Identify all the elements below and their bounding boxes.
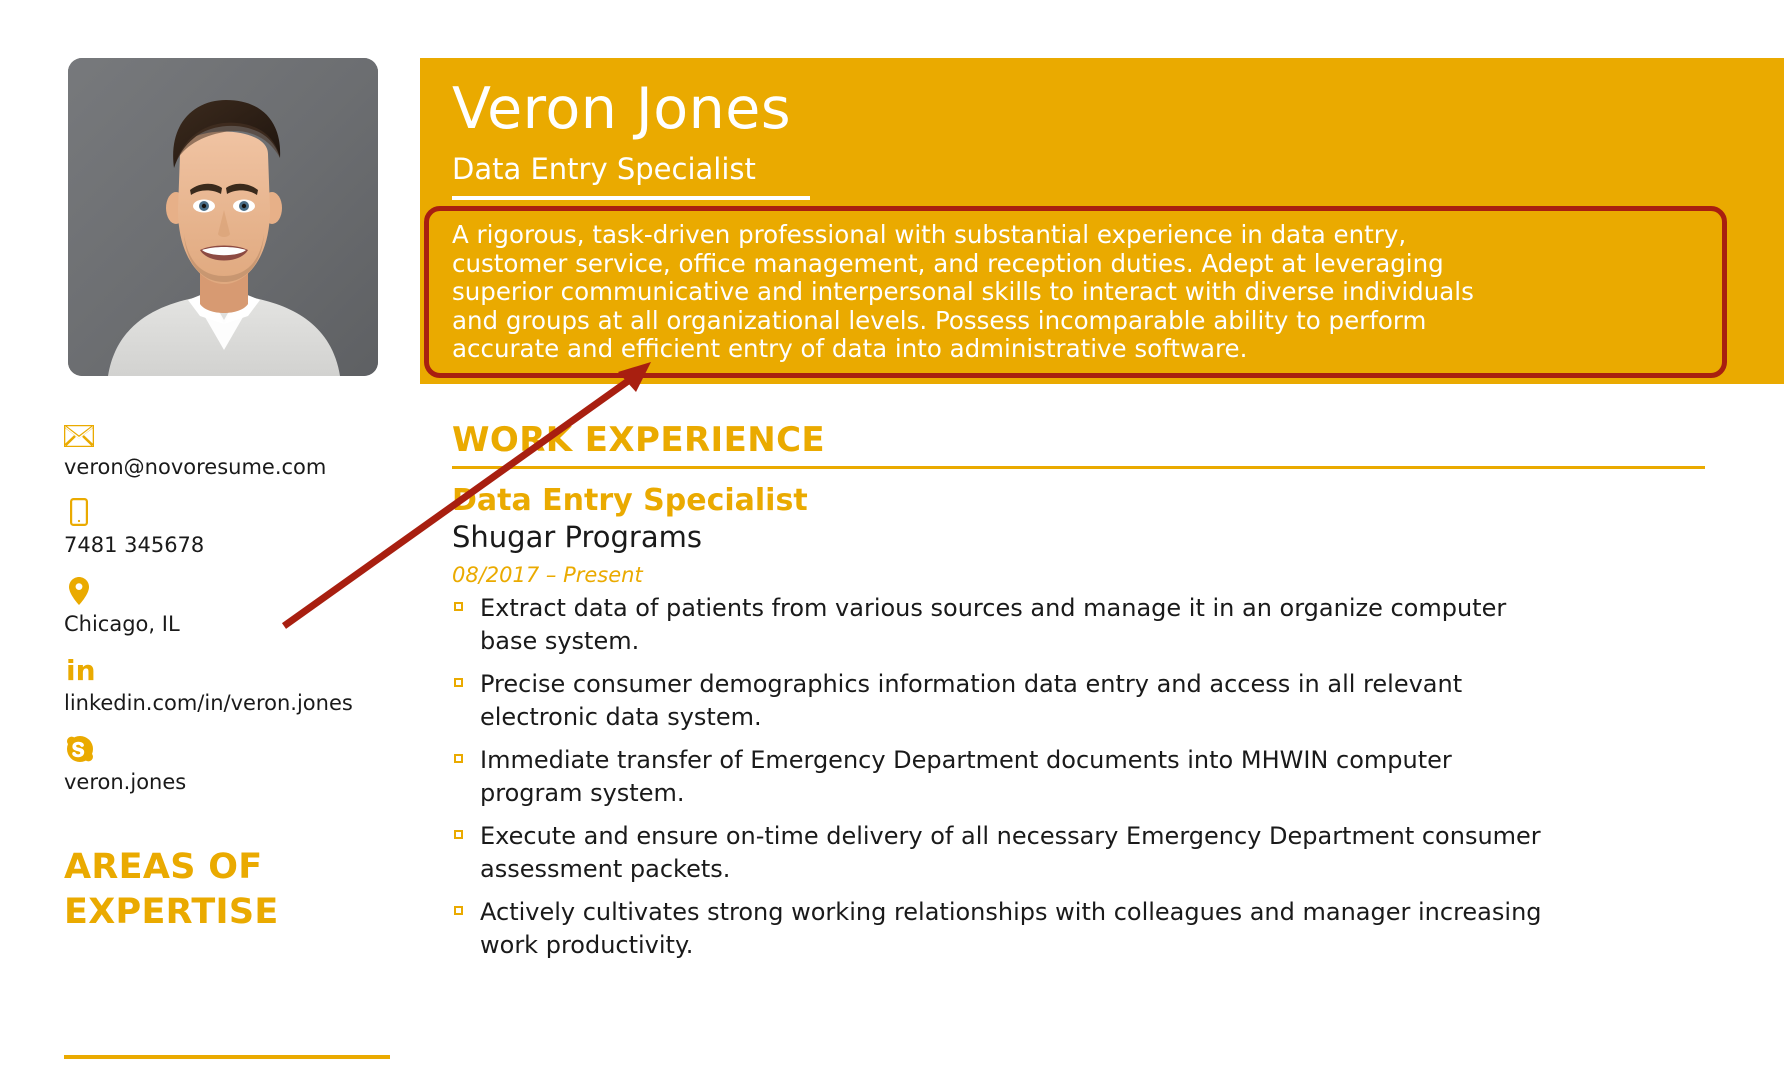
avatar [68,58,378,376]
envelope-icon [64,420,326,450]
square-bullet-icon [454,830,463,839]
square-bullet-icon [454,754,463,763]
contact-skype[interactable]: veron.jones [64,735,186,795]
location-pin-icon [64,577,180,607]
list-item: Extract data of patients from various so… [452,592,1552,658]
list-item: Actively cultivates strong working relat… [452,896,1552,962]
job-subtitle: Data Entry Specialist [452,152,756,186]
work-experience-divider [452,466,1705,469]
skype-icon [64,735,186,765]
linkedin-icon: in [66,656,353,686]
list-item-text: Actively cultivates strong working relat… [480,898,1542,959]
page-title: Veron Jones [452,78,791,140]
contact-phone[interactable]: 7481 345678 [64,498,204,558]
contact-location-value: Chicago, IL [64,612,180,636]
expertise-divider [64,1055,390,1059]
job-position: Data Entry Specialist [452,482,808,520]
contact-linkedin-value: linkedin.com/in/veron.jones [64,691,353,715]
profile-photo [68,58,378,376]
list-item: Execute and ensure on-time delivery of a… [452,820,1552,886]
red-annotation-box [424,206,1727,378]
square-bullet-icon [454,602,463,611]
square-bullet-icon [454,906,463,915]
work-experience-heading: WORK EXPERIENCE [452,420,825,460]
phone-icon [64,498,204,528]
list-item: Immediate transfer of Emergency Departme… [452,744,1552,810]
job-company: Shugar Programs [452,518,702,556]
contact-email-value: veron@novoresume.com [64,455,326,479]
expertise-heading: AREAS OF EXPERTISE [64,845,394,935]
list-item: Precise consumer demographics informatio… [452,668,1552,734]
title-divider [452,196,810,200]
contact-phone-value: 7481 345678 [64,533,204,557]
job-dates: 08/2017 – Present [452,562,643,588]
list-item-text: Execute and ensure on-time delivery of a… [480,822,1541,883]
list-item-text: Immediate transfer of Emergency Departme… [480,746,1452,807]
contact-email[interactable]: veron@novoresume.com [64,420,326,480]
list-item-text: Precise consumer demographics informatio… [480,670,1462,731]
job-bullet-list: Extract data of patients from various so… [452,592,1552,972]
contact-location[interactable]: Chicago, IL [64,577,180,637]
contact-linkedin[interactable]: in linkedin.com/in/veron.jones [64,656,353,716]
square-bullet-icon [454,678,463,687]
list-item-text: Extract data of patients from various so… [480,594,1506,655]
contact-skype-value: veron.jones [64,770,186,794]
